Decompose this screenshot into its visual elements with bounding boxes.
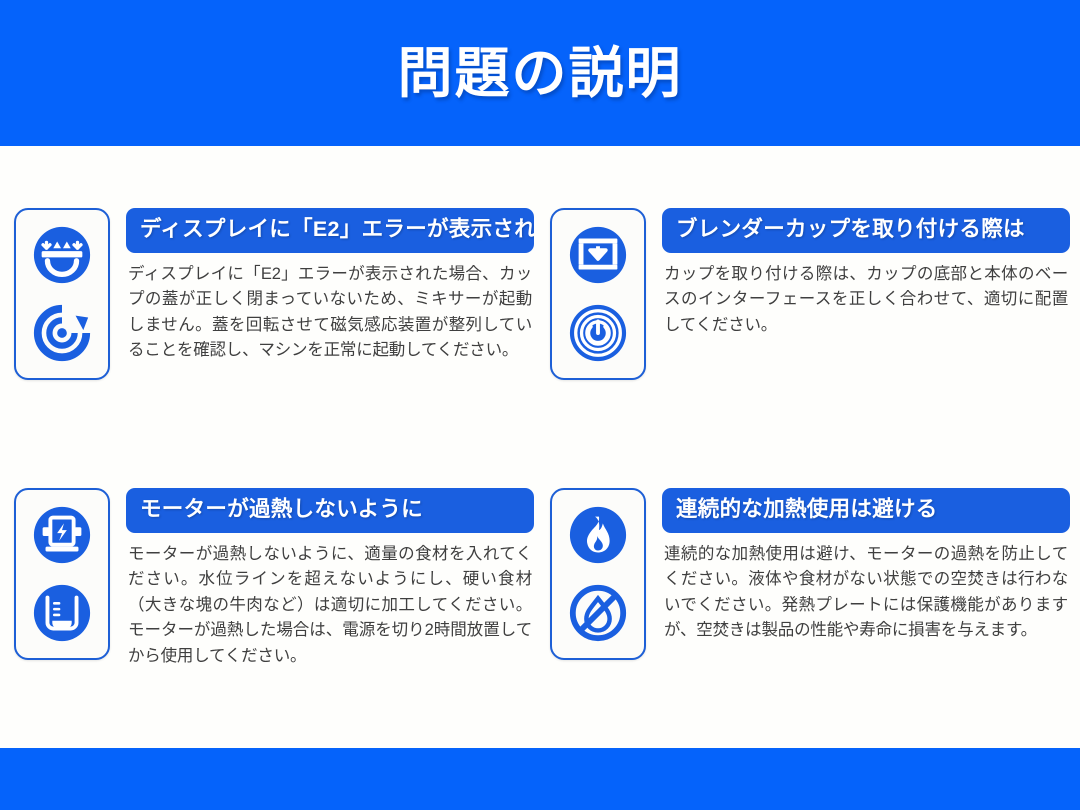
icon-group	[550, 488, 646, 660]
cards-area: ディスプレイに「E2」エラーが表示された場合 ディスプレイに「E2」エラーが表示…	[0, 146, 1080, 748]
info-card: 連続的な加熱使用は避ける 連続的な加熱使用は避け、モーターの過熱を防止してくださ…	[550, 488, 1070, 660]
icon-group	[14, 208, 110, 380]
info-card: ブレンダーカップを取り付ける際は カップを取り付ける際は、カップの底部と本体のベ…	[550, 208, 1070, 380]
card-body: 連続的な加熱使用は避け、モーターの過熱を防止してください。液体や食材がない状態で…	[662, 542, 1070, 644]
card-body: ディスプレイに「E2」エラーが表示された場合、カップの蓋が正しく閉まっていないた…	[126, 262, 534, 364]
info-card: ディスプレイに「E2」エラーが表示された場合 ディスプレイに「E2」エラーが表示…	[14, 208, 534, 380]
water-level-cup-icon	[29, 580, 95, 646]
cup-lid-face-icon	[29, 222, 95, 288]
card-text-column: ディスプレイに「E2」エラーが表示された場合 ディスプレイに「E2」エラーが表示…	[126, 208, 534, 364]
info-card: モーターが過熱しないように モーターが過熱しないように、適量の食材を入れてくださ…	[14, 488, 534, 670]
page-header: 問題の説明	[0, 0, 1080, 146]
motor-power-icon	[29, 502, 95, 568]
flame-icon	[565, 502, 631, 568]
card-title: モーターが過熱しないように	[126, 488, 534, 533]
card-title: 連続的な加熱使用は避ける	[662, 488, 1070, 533]
page-footer	[0, 748, 1080, 810]
card-body: カップを取り付ける際は、カップの底部と本体のベースのインターフェースを正しく合わ…	[662, 262, 1070, 339]
card-text-column: 連続的な加熱使用は避ける 連続的な加熱使用は避け、モーターの過熱を防止してくださ…	[662, 488, 1070, 644]
card-text-column: モーターが過熱しないように モーターが過熱しないように、適量の食材を入れてくださ…	[126, 488, 534, 670]
power-button-icon	[565, 300, 631, 366]
page-title: 問題の説明	[397, 46, 682, 101]
card-title: ブレンダーカップを取り付ける際は	[662, 208, 1070, 253]
card-title: ディスプレイに「E2」エラーが表示された場合	[126, 208, 534, 253]
icon-group	[550, 208, 646, 380]
icon-group	[14, 488, 110, 660]
rotate-refresh-icon	[29, 300, 95, 366]
card-body: モーターが過熱しないように、適量の食材を入れてください。水位ラインを超えないよう…	[126, 542, 534, 670]
card-text-column: ブレンダーカップを取り付ける際は カップを取り付ける際は、カップの底部と本体のベ…	[662, 208, 1070, 338]
install-into-base-icon	[565, 222, 631, 288]
no-water-drop-icon	[565, 580, 631, 646]
